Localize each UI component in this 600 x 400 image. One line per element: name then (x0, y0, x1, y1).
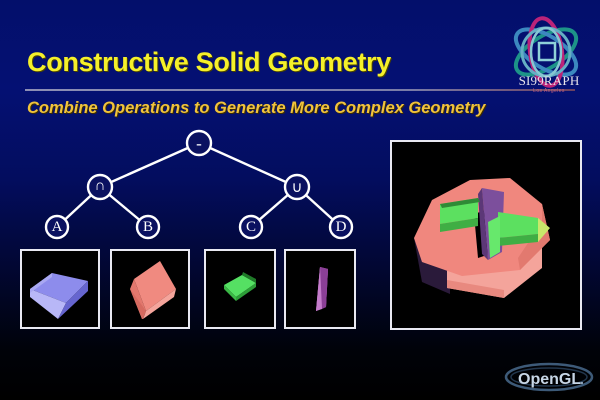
opengl-logo-icon: OpenGL . (504, 362, 594, 392)
thumbnail-primitive-d[interactable] (284, 249, 356, 329)
tree-node-difference[interactable] (187, 131, 211, 155)
tree-edge-intersection-a (57, 187, 100, 227)
tree-node-label-c: C (238, 219, 264, 236)
tree-edge-union-d (297, 187, 341, 227)
tree-node-d[interactable] (330, 216, 352, 238)
tree-edge-union-c (251, 187, 297, 227)
tree-node-label-union: ∪ (284, 178, 310, 197)
tree-edge-root-union (199, 143, 297, 187)
main-render-image[interactable] (390, 140, 582, 330)
tree-node-a[interactable] (46, 216, 68, 238)
title-divider (25, 89, 575, 91)
svg-text:.: . (580, 371, 584, 387)
thumbnail-primitive-b[interactable] (110, 249, 190, 329)
tree-node-label-difference: - (186, 134, 212, 154)
tree-node-circles (46, 131, 352, 238)
svg-text:OpenGL: OpenGL (518, 371, 581, 388)
tree-node-union[interactable] (285, 175, 309, 199)
thumbnail-primitive-c[interactable] (204, 249, 276, 329)
tree-node-label-a: A (44, 219, 70, 236)
page-title: Constructive Solid Geometry (27, 47, 391, 78)
slide-canvas: Constructive Solid Geometry Combine Oper… (0, 0, 600, 400)
tree-edge-intersection-b (100, 187, 148, 227)
page-subtitle: Combine Operations to Generate More Comp… (27, 99, 485, 118)
thumbnail-primitive-a[interactable] (20, 249, 100, 329)
siggraph-wordmark: SI99RAPH (503, 73, 595, 89)
tree-node-label-b: B (135, 219, 161, 236)
siggraph-location-label: Los Angeles (503, 88, 595, 94)
tree-node-b[interactable] (137, 216, 159, 238)
tree-node-c[interactable] (240, 216, 262, 238)
tree-edges (57, 143, 341, 227)
tree-node-label-d: D (328, 219, 354, 236)
tree-edge-root-intersection (100, 143, 199, 187)
tree-node-intersection[interactable] (88, 175, 112, 199)
tree-node-label-intersection: ∩ (87, 178, 113, 195)
